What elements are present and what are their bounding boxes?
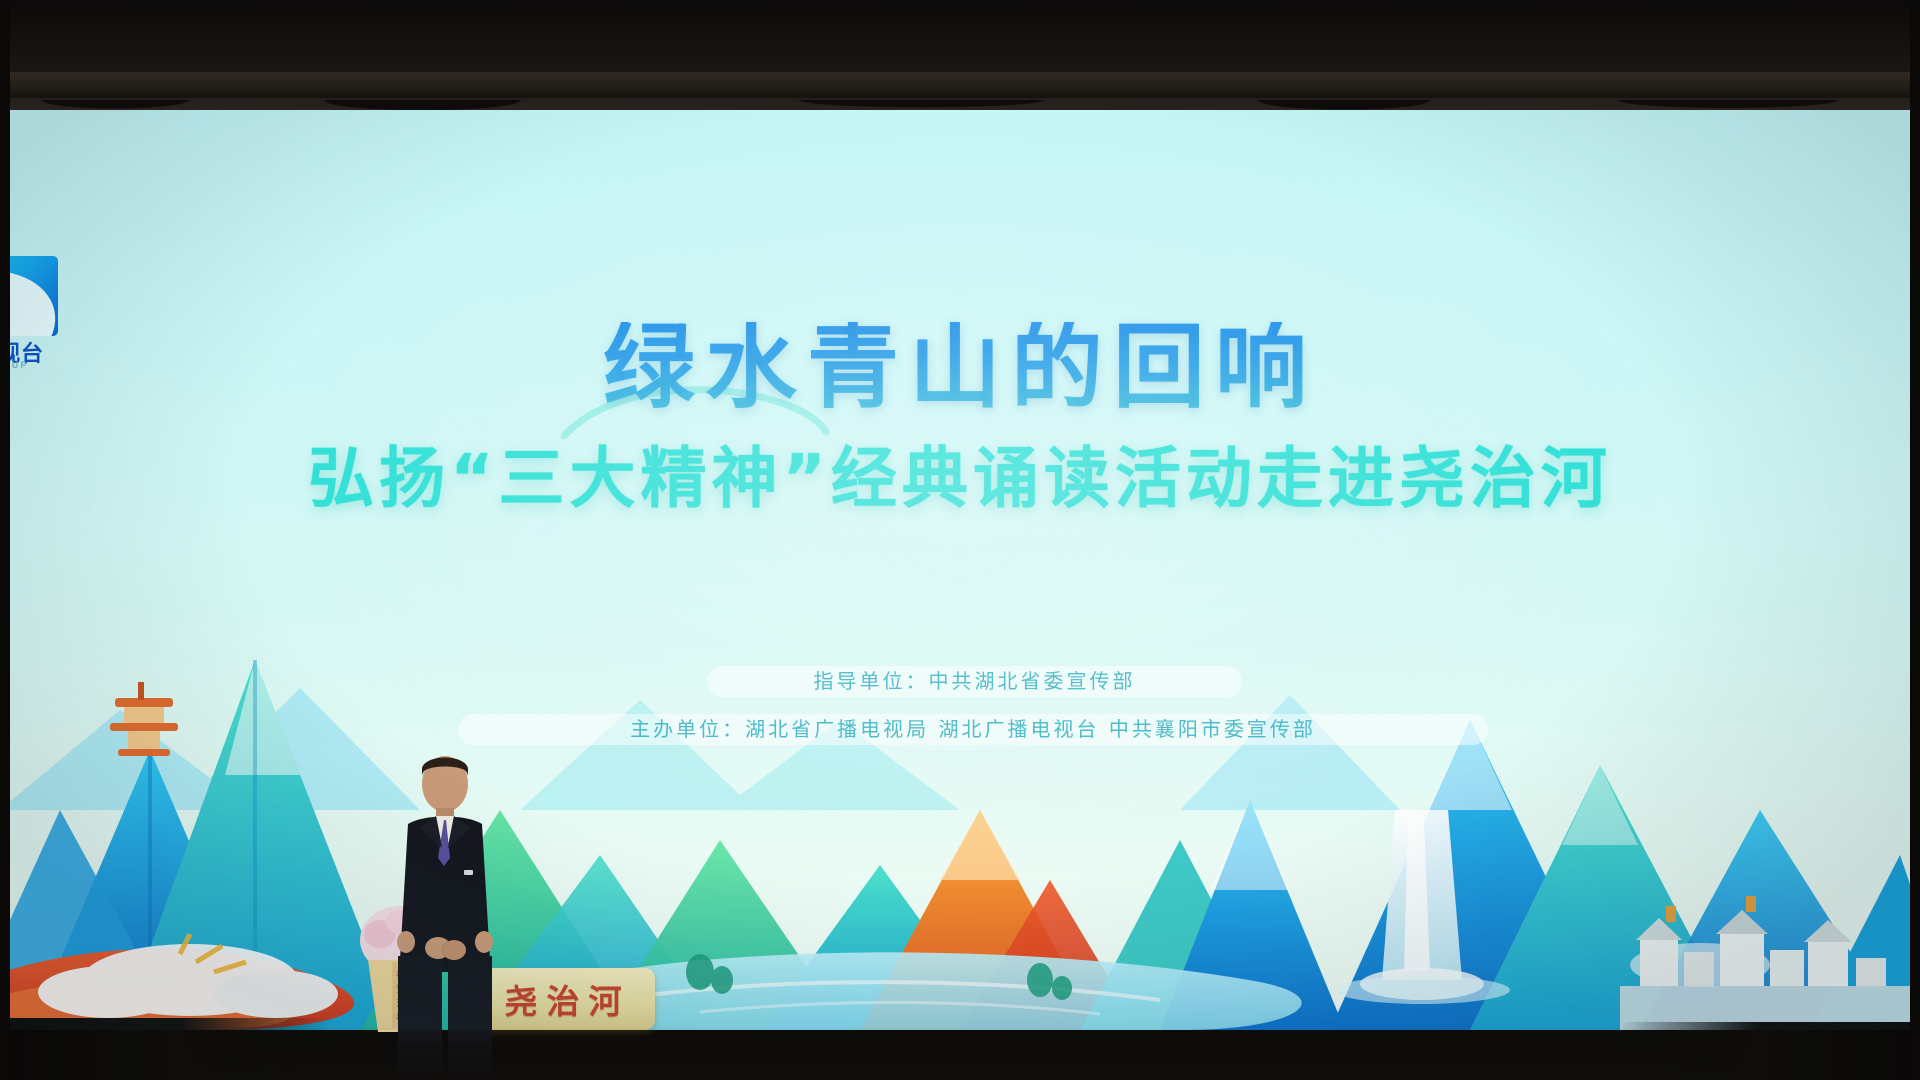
plaque-label: 尧治河	[505, 975, 631, 1023]
page-subtitle: 弘扬“三大精神”经典诵读活动走进尧治河	[0, 446, 1920, 512]
hall-ceiling	[0, 0, 1920, 118]
ceiling-beam	[0, 72, 1920, 98]
credit-organizing-unit: 主办单位：湖北省广播电视局 湖北广播电视台 中共襄阳市委宣传部	[458, 714, 1488, 745]
landscape-illustration	[0, 510, 1920, 1030]
hall-right-wall	[1910, 0, 1920, 1080]
stage-floor-left-shadow	[0, 1018, 330, 1080]
page-title: 绿水青山的回响	[0, 322, 1920, 414]
hall-left-wall	[0, 0, 10, 1080]
led-screen: 播电视台 EDIA GROUP 绿水青山的回响 弘扬“三大精神”经典诵读活动走进…	[0, 110, 1920, 1030]
stage-scene: 播电视台 EDIA GROUP 绿水青山的回响 弘扬“三大精神”经典诵读活动走进…	[0, 0, 1920, 1080]
stage-floor-right-shadow	[1620, 1022, 1920, 1080]
credit-guiding-unit: 指导单位：中共湖北省委宣传部	[707, 666, 1242, 697]
